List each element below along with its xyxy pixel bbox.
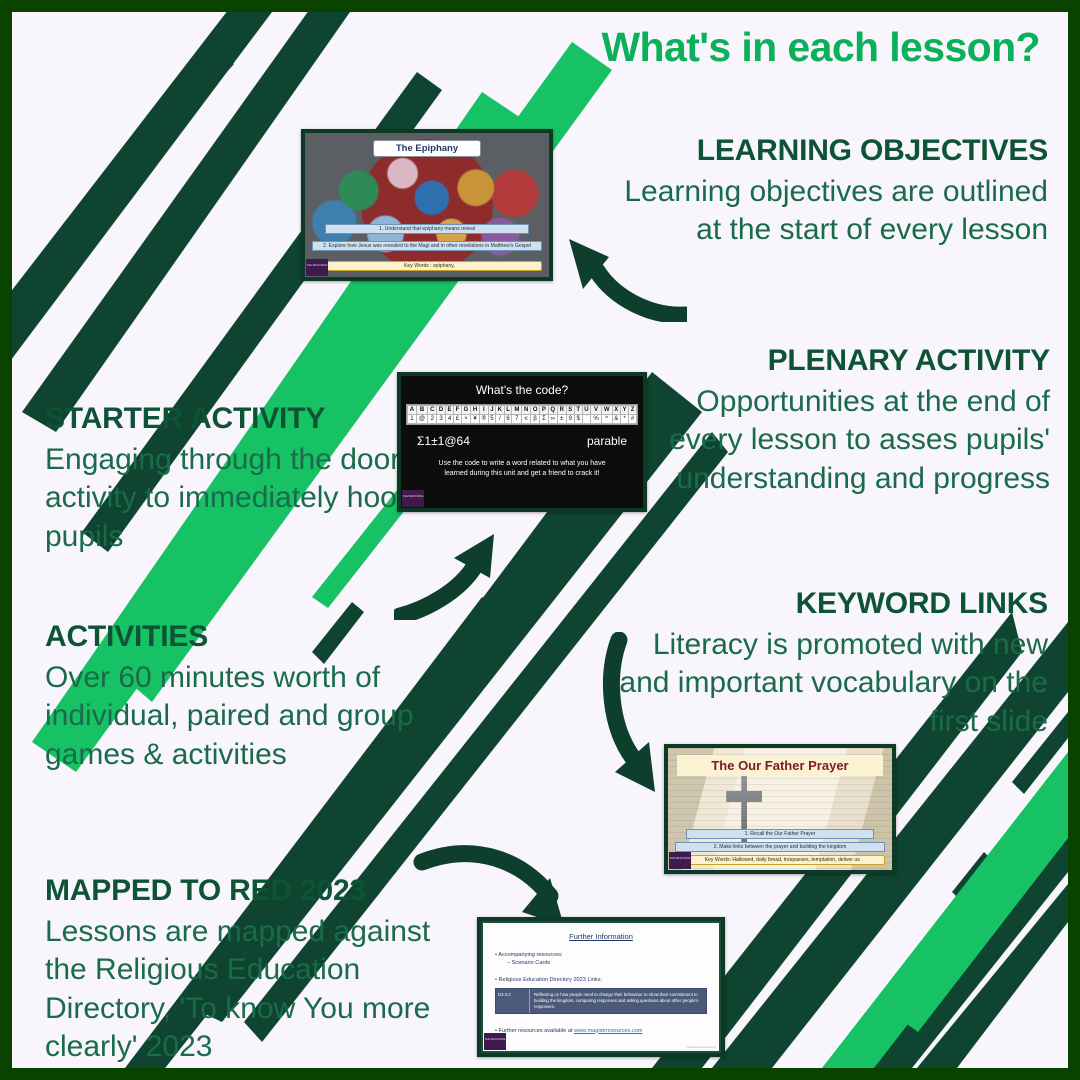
cipher-symbol-cell: $ [574,415,582,424]
section-heading: KEYWORD LINKS [612,587,1048,620]
bullet-text: Religious Education Directory 2023 Links… [499,977,603,983]
cipher-letter-cell: N [522,406,531,415]
cipher-letter-cell: A [408,406,417,415]
section-heading: MAPPED TO RED 2023 [45,874,465,907]
cipher-letter-cell: H [471,406,480,415]
cipher-symbol-cell: # [629,415,637,424]
cipher-symbol-cell: & [612,415,620,424]
cipher-letter-cell: R [557,406,566,415]
section-learning-objectives: LEARNING OBJECTIVES Learning objectives … [612,134,1048,250]
section-heading: PLENARY ACTIVITY [622,344,1050,377]
slide-title: What's the code? [401,376,643,397]
cipher-letter-cell: F [454,406,462,415]
publisher-logo: THE RESOURCE [484,1033,506,1050]
further-resources-line: • Further resources available at www.mag… [495,1028,707,1034]
publisher-logo: THE RESOURCE [669,852,691,869]
cipher-symbols-row: 1@234£×¥®5/67≤βΣ∞±9$˙%^&*# [408,415,637,424]
code-example-row: Σ1±1@64 parable [417,434,627,448]
learning-objective-1: 1. Recall the Our Father Prayer [686,829,874,839]
cipher-letter-cell: Y [620,406,628,415]
slide-title: The Epiphany [373,140,480,157]
section-body: Engaging through the door activity to im… [45,441,425,556]
cipher-symbol-cell: @ [416,415,428,424]
cipher-letter-cell: C [428,406,437,415]
keywords-bar: Key Words : epiphany, [317,261,541,271]
cipher-letter-cell: U [582,406,591,415]
slide-body: • Accompanying resources: – Scenario Car… [495,951,707,1014]
cipher-symbol-cell: / [495,415,504,424]
red-code-cell: D3.3.3 [496,989,530,1012]
bullet-scenario-cards: – Scenario Cards [507,959,707,967]
cipher-letter-cell: J [488,406,495,415]
section-mapped-to-red-2023: MAPPED TO RED 2023 Lessons are mapped ag… [45,874,465,1067]
cipher-symbol-cell: 3 [437,415,446,424]
cipher-letter-cell: O [531,406,540,415]
section-body: Literacy is promoted with new and import… [612,626,1048,741]
example-word: parable [587,434,627,448]
cipher-letter-cell: K [495,406,504,415]
section-body: Opportunities at the end of every lesson… [622,383,1050,498]
cipher-symbol-cell: 5 [488,415,495,424]
slide-thumbnail-our-father[interactable]: The Our Father Prayer 1. Recall the Our … [664,744,896,874]
example-code: Σ1±1@64 [417,434,470,448]
cipher-letter-cell: Q [548,406,557,415]
cipher-letter-cell: B [416,406,428,415]
slide-thumbnail-code[interactable]: What's the code? ABCDEFGHIJKLMNOPQRSTUVW… [397,372,647,512]
cipher-letter-cell: D [437,406,446,415]
cipher-symbol-cell: ≤ [522,415,531,424]
bullet-red-links: • Religious Education Directory 2023 Lin… [495,976,707,984]
cipher-table: ABCDEFGHIJKLMNOPQRSTUVWXYZ 1@234£×¥®5/67… [406,404,638,425]
cipher-symbol-cell: ¥ [471,415,480,424]
footer-prefix: Further resources available at [499,1028,575,1034]
code-instruction: Use the code to write a word related to … [429,459,615,479]
publisher-logo: THE RESOURCE [402,490,424,507]
cipher-symbol-cell: 6 [504,415,512,424]
cipher-symbol-cell: β [531,415,540,424]
publisher-logo: THE RESOURCE [306,259,328,276]
cipher-letter-cell: T [574,406,582,415]
learning-objective-1: 1. Understand that epiphany means reveal [325,224,530,234]
cipher-symbol-cell: ∞ [548,415,557,424]
cipher-symbol-cell: £ [454,415,462,424]
cipher-letter-cell: X [612,406,620,415]
section-heading: ACTIVITIES [45,620,425,653]
keywords-bar: Key Words: Hallowed, daily bread, trespa… [679,855,885,865]
section-starter-activity: STARTER ACTIVITY Engaging through the do… [45,402,425,556]
cipher-letter-cell: G [461,406,470,415]
section-plenary-activity: PLENARY ACTIVITY Opportunities at the en… [622,344,1050,498]
resources-link[interactable]: www.magistrresources.com [574,1028,642,1034]
keywords-text: Key Words : epiphany, [404,263,455,269]
cipher-symbol-cell: × [461,415,470,424]
cipher-letter-cell: E [445,406,453,415]
cipher-symbol-cell: ^ [601,415,612,424]
cipher-letter-cell: W [601,406,612,415]
cipher-letter-cell: L [504,406,512,415]
cipher-symbol-cell: 7 [512,415,522,424]
section-keyword-links: KEYWORD LINKS Literacy is promoted with … [612,587,1048,741]
section-heading: STARTER ACTIVITY [45,402,425,435]
cipher-letter-cell: P [540,406,548,415]
section-heading: LEARNING OBJECTIVES [612,134,1048,167]
cipher-symbol-cell: 4 [445,415,453,424]
cipher-letter-cell: Z [629,406,637,415]
cipher-symbol-cell: 2 [428,415,437,424]
bullet-accompanying-resources: • Accompanying resources: [495,951,707,959]
cipher-symbol-cell: ± [557,415,566,424]
cipher-symbol-cell: % [591,415,601,424]
cipher-symbol-cell: 1 [408,415,417,424]
cipher-letters-row: ABCDEFGHIJKLMNOPQRSTUVWXYZ [408,406,637,415]
cipher-letter-cell: S [566,406,574,415]
poster-canvas: What's in each lesson? LEARNING OBJECTIV… [12,12,1068,1068]
cipher-letter-cell: I [479,406,488,415]
slide-title: Further Information [483,932,719,941]
bullet-text: Scenario Cards [512,960,551,966]
learning-objective-2: 2. Explore how Jesus was revealed to the… [312,241,541,251]
keywords-text: Key Words: Hallowed, daily bread, trespa… [705,857,860,863]
cipher-letter-cell: M [512,406,522,415]
red-directory-table: D3.3.3 Reflecting on how people need to … [495,988,707,1013]
section-body: Lessons are mapped against the Religious… [45,913,465,1067]
cipher-symbol-cell: ˙ [582,415,591,424]
slide-thumbnail-further-information[interactable]: Further Information • Accompanying resou… [477,917,725,1057]
red-description-cell: Reflecting on how people need to change … [530,989,706,1012]
slide-title: The Our Father Prayer [677,755,883,776]
bullet-text: Accompanying resources: [498,952,562,958]
slide-thumbnail-epiphany[interactable]: The Epiphany 1. Understand that epiphany… [301,129,553,281]
cipher-symbol-cell: ® [479,415,488,424]
cipher-symbol-cell: Σ [540,415,548,424]
learning-objective-2: 2. Make links between the prayer and bui… [675,842,886,852]
cipher-symbol-cell: * [620,415,628,424]
section-body: Learning objectives are outlined at the … [612,173,1048,250]
section-body: Over 60 minutes worth of individual, pai… [45,659,425,774]
section-activities: ACTIVITIES Over 60 minutes worth of indi… [45,620,425,774]
cipher-symbol-cell: 9 [566,415,574,424]
page-title: What's in each lesson? [601,24,1040,71]
credit-text: © Magister Resources Ltd [686,1046,716,1049]
cipher-letter-cell: V [591,406,601,415]
